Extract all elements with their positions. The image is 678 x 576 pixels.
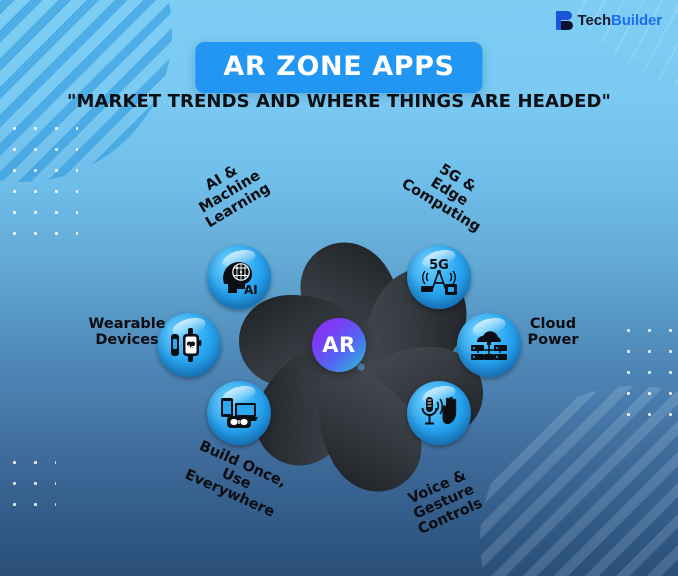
brand-logo-text: TechBuilder [578,12,662,29]
brand-logo: TechBuilder [556,11,662,30]
vr-headset-devices-icon [218,394,260,432]
dot-grid-bottom-left [4,452,56,516]
brain-head-ai-icon: AI [219,257,259,297]
title-pill: AR ZONE APPS [195,42,482,93]
icon-bubble-ai[interactable]: AI [207,245,271,309]
label-cloud-power: Cloud Power [492,316,614,348]
techbuilder-logo-mark-icon [556,11,573,30]
cell-tower-5g-chip-icon: 5G [418,256,460,298]
icon-bubble-build-once[interactable] [207,381,271,445]
dot-grid-left [4,118,78,248]
svg-text:AI: AI [244,283,258,297]
microphone-hand-icon [418,393,460,433]
infographic-canvas: TechBuilder AR ZONE APPS "MARKET TRENDS … [0,0,678,576]
logo-text-tech: Tech [578,12,612,29]
label-wearable-devices: Wearable Devices [66,316,188,348]
hub-label: AR [322,333,355,357]
logo-text-builder: Builder [611,12,662,29]
page-subtitle: "MARKET TRENDS AND WHERE THINGS ARE HEAD… [67,91,611,112]
dot-grid-right [618,320,672,430]
icon-bubble-5g[interactable]: 5G [407,245,471,309]
center-hub[interactable]: AR [312,318,366,372]
page-title: AR ZONE APPS [223,51,454,82]
icon-bubble-voice[interactable] [407,381,471,445]
